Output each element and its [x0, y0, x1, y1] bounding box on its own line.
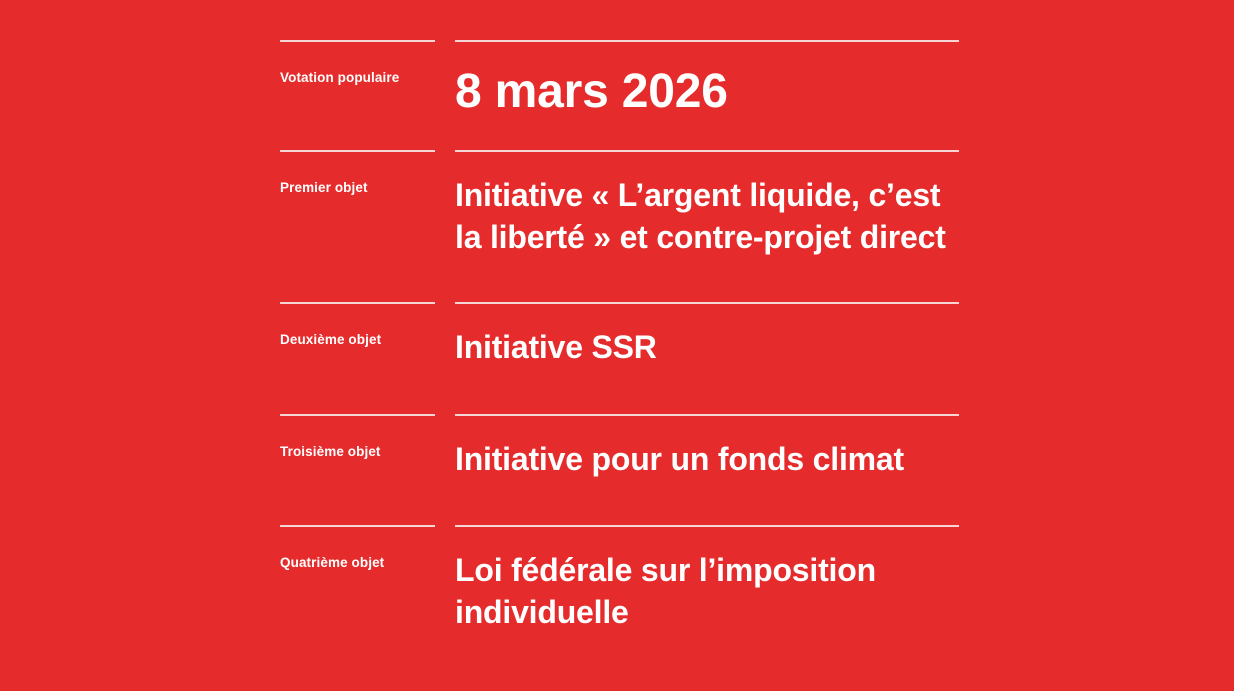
object-4-label: Quatrième objet [280, 529, 435, 571]
object-3-label: Troisième objet [280, 418, 435, 460]
votation-date-label: Votation populaire [280, 44, 435, 86]
votation-date-label-cell: Votation populaire [280, 40, 435, 86]
object-2-title-cell: Initiative SSR [455, 302, 959, 368]
votation-objects-grid: Votation populaire 8 mars 2026 Premier o… [280, 40, 959, 645]
object-2-title: Initiative SSR [455, 306, 959, 368]
object-1-title: Initiative « L’argent liquide, c’est la … [455, 154, 959, 258]
object-3-title: Initiative pour un fonds climat [455, 418, 959, 480]
object-row-2: Deuxième objet Initiative SSR [280, 302, 959, 414]
object-4-title-cell: Loi fédérale sur l’imposition individuel… [455, 525, 959, 633]
object-3-title-cell: Initiative pour un fonds climat [455, 414, 959, 480]
object-2-label-cell: Deuxième objet [280, 302, 435, 348]
object-3-label-cell: Troisième objet [280, 414, 435, 460]
votation-date-value: 8 mars 2026 [455, 44, 959, 116]
object-1-label: Premier objet [280, 154, 435, 196]
object-1-title-cell: Initiative « L’argent liquide, c’est la … [455, 150, 959, 258]
votation-poster: Votation populaire 8 mars 2026 Premier o… [0, 0, 1234, 691]
object-row-3: Troisième objet Initiative pour un fonds… [280, 414, 959, 525]
votation-date-value-cell: 8 mars 2026 [455, 40, 959, 116]
object-4-label-cell: Quatrième objet [280, 525, 435, 571]
object-1-label-cell: Premier objet [280, 150, 435, 196]
object-row-1: Premier objet Initiative « L’argent liqu… [280, 150, 959, 302]
object-2-label: Deuxième objet [280, 306, 435, 348]
object-row-4: Quatrième objet Loi fédérale sur l’impos… [280, 525, 959, 645]
votation-date-row: Votation populaire 8 mars 2026 [280, 40, 959, 150]
object-4-title: Loi fédérale sur l’imposition individuel… [455, 529, 959, 633]
